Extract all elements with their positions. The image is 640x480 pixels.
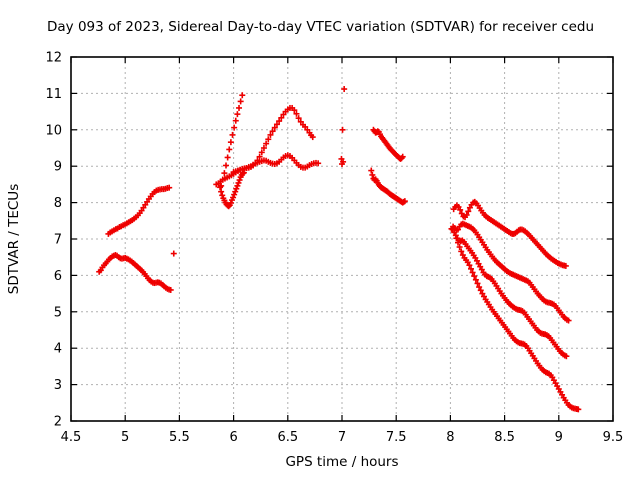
x-tick-label: 8 — [446, 430, 454, 445]
y-tick-label: 2 — [54, 415, 62, 430]
y-tick-label: 10 — [45, 123, 62, 138]
canvas-background — [0, 0, 640, 480]
x-tick-label: 9 — [555, 430, 563, 445]
y-tick-label: 3 — [54, 378, 62, 393]
plot-container: Day 093 of 2023, Sidereal Day-to-day VTE… — [0, 0, 640, 480]
page-title: Day 093 of 2023, Sidereal Day-to-day VTE… — [47, 19, 594, 35]
x-tick-label: 9.5 — [603, 430, 624, 445]
x-tick-label: 5.5 — [169, 430, 190, 445]
y-axis-title: SDTVAR / TECUs — [6, 184, 22, 294]
x-tick-label: 7.5 — [386, 430, 407, 445]
x-tick-label: 6.5 — [277, 430, 298, 445]
y-tick-label: 8 — [54, 196, 62, 211]
x-tick-label: 5 — [121, 430, 129, 445]
x-tick-label: 6 — [229, 430, 237, 445]
x-axis-title: GPS time / hours — [285, 454, 398, 470]
y-tick-label: 9 — [54, 160, 62, 175]
y-tick-label: 7 — [54, 233, 62, 248]
x-tick-label: 4.5 — [61, 430, 82, 445]
x-tick-label: 7 — [338, 430, 346, 445]
y-tick-label: 4 — [54, 342, 62, 357]
x-tick-label: 8.5 — [494, 430, 515, 445]
y-tick-label: 6 — [54, 269, 62, 284]
sdtvar-scatter-chart: Day 093 of 2023, Sidereal Day-to-day VTE… — [0, 0, 640, 480]
y-tick-label: 12 — [45, 51, 62, 66]
y-tick-label: 11 — [45, 87, 62, 102]
y-tick-label: 5 — [54, 305, 62, 320]
